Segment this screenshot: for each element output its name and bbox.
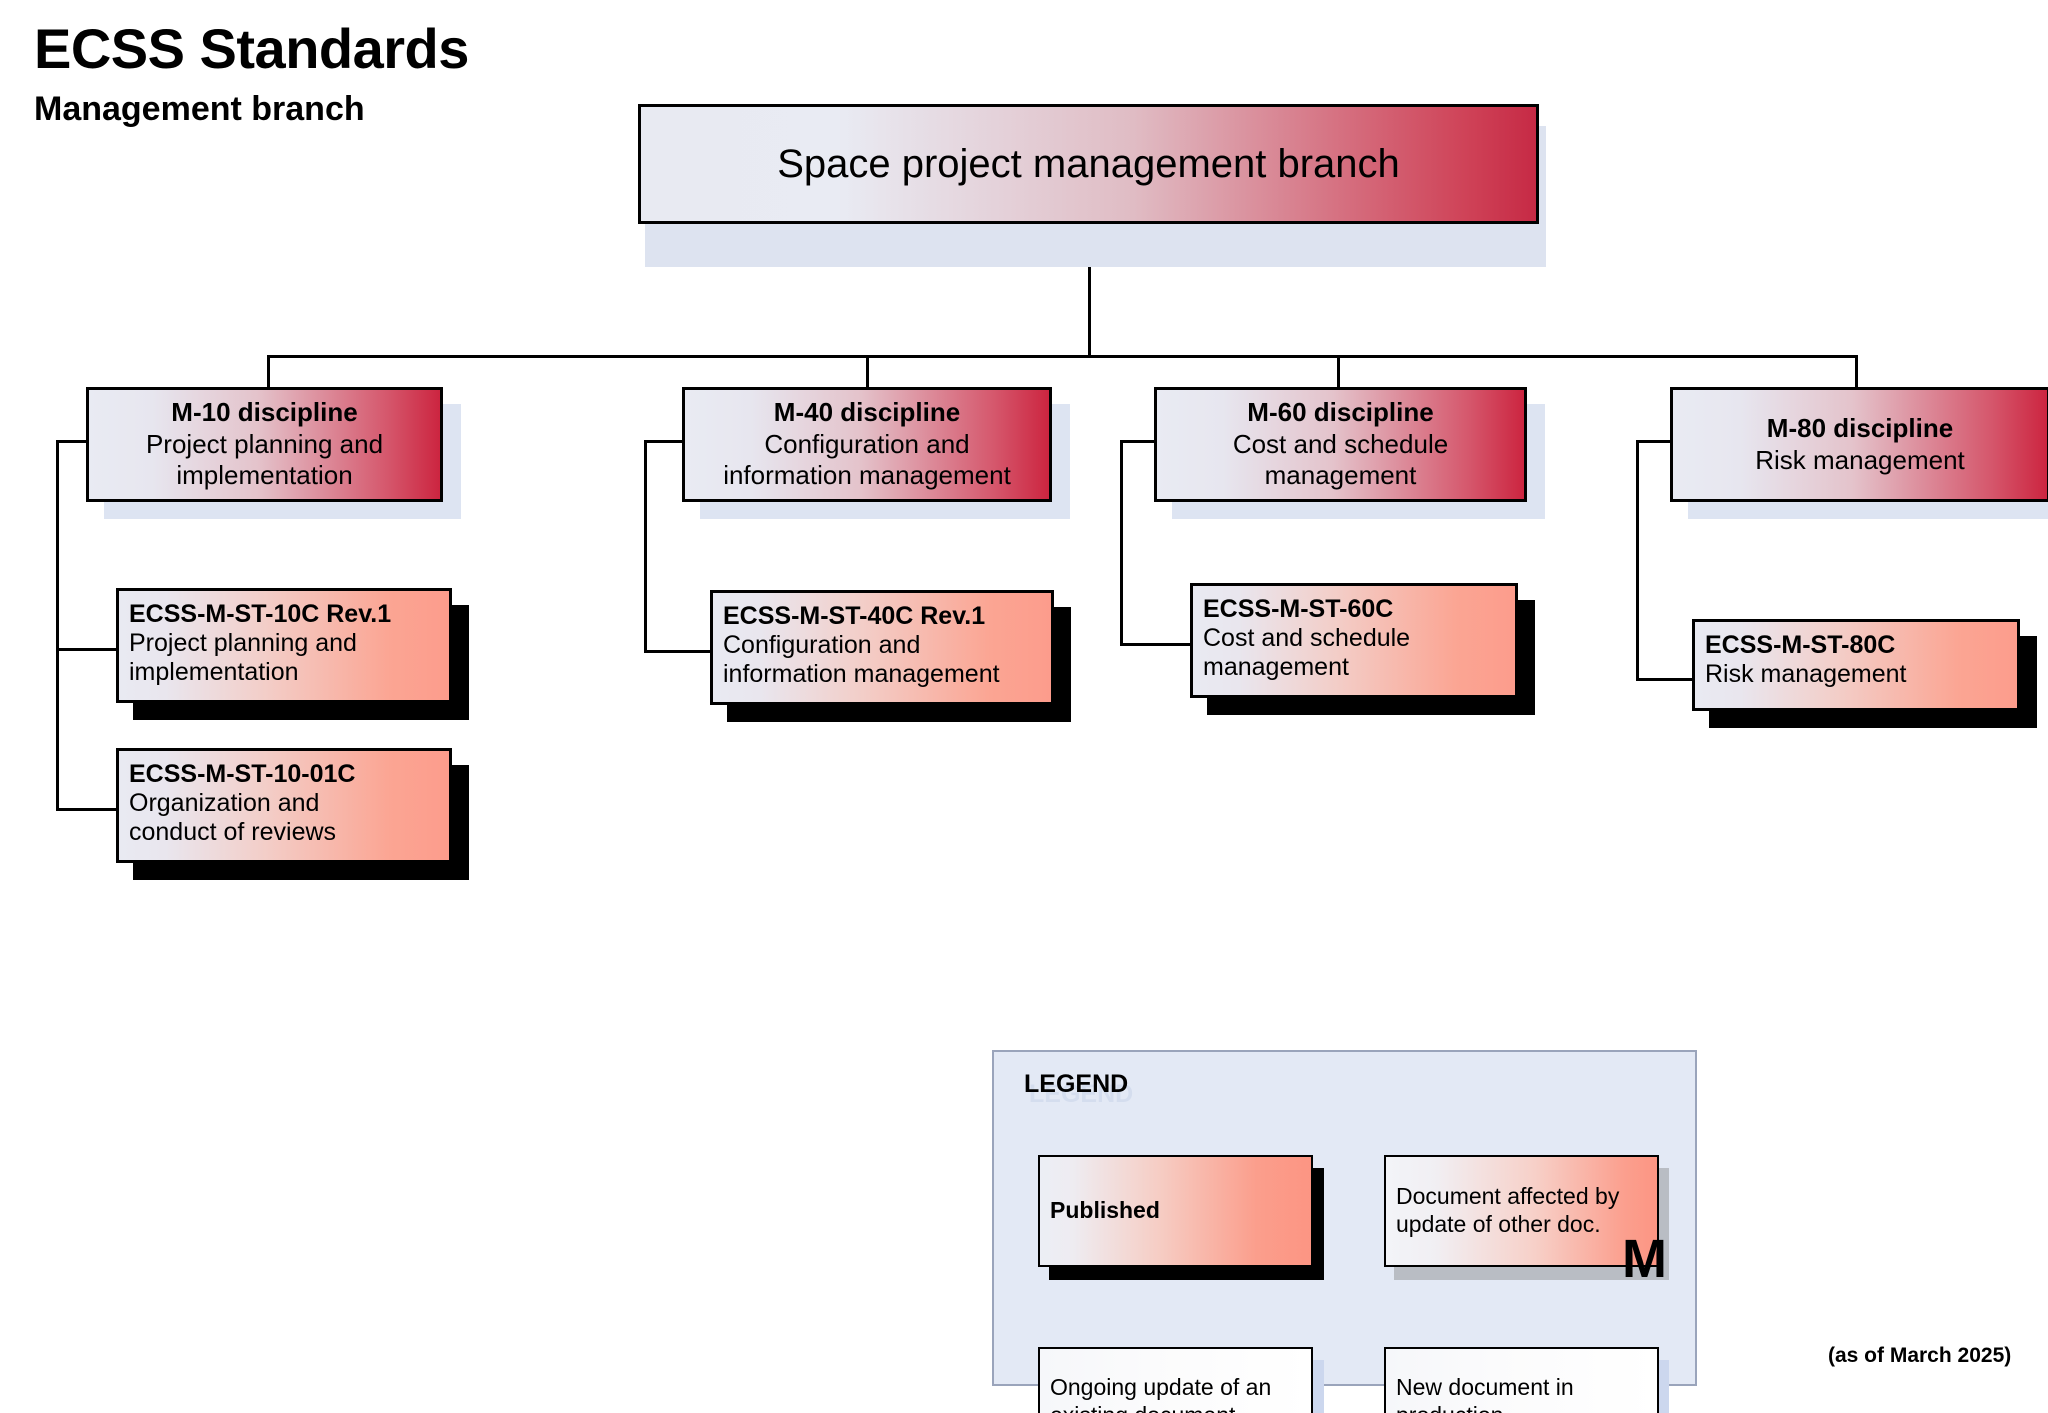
- document-code-m10-2: ECSS-M-ST-10-01C: [129, 760, 459, 789]
- legend-label-ongoing-line1: Ongoing update of an: [1050, 1374, 1311, 1402]
- connector-spine-m40: [644, 440, 647, 652]
- discipline-node-m60[interactable]: M-60 discipline Cost and schedule manage…: [1154, 387, 1527, 502]
- discipline-code-m10: M-10 discipline: [89, 397, 440, 429]
- legend-label-new-line2: production: [1396, 1402, 1657, 1413]
- legend-label-published: Published: [1050, 1197, 1311, 1225]
- legend-marker-m: M: [1622, 1232, 1667, 1286]
- document-code-m80-1: ECSS-M-ST-80C: [1705, 631, 2027, 660]
- document-desc-m60-1-line1: Cost and schedule: [1203, 624, 1525, 652]
- discipline-node-m40[interactable]: M-40 discipline Configuration and inform…: [682, 387, 1052, 502]
- connector-spine-m80: [1636, 440, 1639, 680]
- as-of-date: (as of March 2025): [1828, 1344, 2011, 1368]
- discipline-name-m40-line1: Configuration and: [685, 429, 1049, 461]
- connector-spine-m60: [1120, 440, 1123, 645]
- document-node-ecss-m-st-40c-rev1[interactable]: ECSS-M-ST-40C Rev.1 Configuration and in…: [710, 590, 1054, 705]
- connector-drop-m60: [1337, 355, 1340, 389]
- connector-horizontal-bus: [267, 355, 1855, 358]
- document-node-ecss-m-st-10c-rev1[interactable]: ECSS-M-ST-10C Rev.1 Project planning and…: [116, 588, 452, 703]
- discipline-node-m80[interactable]: M-80 discipline Risk management: [1670, 387, 2048, 502]
- document-desc-m40-1-line2: information management: [723, 660, 1061, 688]
- document-desc-m40-1-line1: Configuration and: [723, 631, 1061, 659]
- page-title: ECSS Standards: [34, 16, 469, 81]
- legend-label-new-line1: New document in: [1396, 1374, 1657, 1402]
- document-code-m60-1: ECSS-M-ST-60C: [1203, 595, 1525, 624]
- root-node[interactable]: Space project management branch: [638, 104, 1539, 224]
- document-node-ecss-m-st-60c[interactable]: ECSS-M-ST-60C Cost and schedule manageme…: [1190, 583, 1518, 698]
- document-code-m40-1: ECSS-M-ST-40C Rev.1: [723, 602, 1061, 631]
- legend-title: LEGEND: [1024, 1070, 1128, 1099]
- connector-m10-doc1: [56, 648, 118, 651]
- document-desc-m60-1-line2: management: [1203, 653, 1525, 681]
- discipline-name-m60-line2: management: [1157, 460, 1524, 492]
- discipline-code-m60: M-60 discipline: [1157, 397, 1524, 429]
- discipline-name-m40-line2: information management: [685, 460, 1049, 492]
- connector-m10-doc2: [56, 808, 118, 811]
- discipline-name-m10-line1: Project planning and: [89, 429, 440, 461]
- discipline-node-m10[interactable]: M-10 discipline Project planning and imp…: [86, 387, 443, 502]
- document-desc-m10-2-line2: conduct of reviews: [129, 818, 459, 846]
- document-code-m10-1: ECSS-M-ST-10C Rev.1: [129, 600, 459, 629]
- document-node-ecss-m-st-80c[interactable]: ECSS-M-ST-80C Risk management: [1692, 619, 2020, 711]
- legend-label-ongoing-line2: existing document: [1050, 1402, 1311, 1413]
- legend-label-affected-line1: Document affected by: [1396, 1183, 1657, 1211]
- legend-item-ongoing[interactable]: Ongoing update of an existing document: [1038, 1347, 1313, 1413]
- legend-item-affected[interactable]: Document affected by update of other doc…: [1384, 1155, 1659, 1267]
- connector-spine-m10: [56, 440, 59, 810]
- page-subtitle: Management branch: [34, 90, 365, 129]
- connector-spine-m80-top: [1636, 440, 1670, 443]
- discipline-code-m40: M-40 discipline: [685, 397, 1049, 429]
- connector-spine-m60-top: [1120, 440, 1154, 443]
- connector-spine-m40-top: [644, 440, 686, 443]
- document-desc-m10-1-line2: implementation: [129, 658, 459, 686]
- diagram-canvas: ECSS Standards Management branch (as of …: [0, 0, 2048, 1413]
- root-node-label: Space project management branch: [641, 142, 1536, 186]
- connector-drop-m80: [1855, 355, 1858, 389]
- connector-drop-m10: [267, 355, 270, 389]
- discipline-name-m80-line1: Risk management: [1673, 445, 2047, 477]
- document-desc-m10-2-line1: Organization and: [129, 789, 459, 817]
- legend-item-new[interactable]: New document in production: [1384, 1347, 1659, 1413]
- legend-panel: LEGEND LEGEND Published Document affecte…: [992, 1050, 1697, 1386]
- connector-m40-doc1: [644, 650, 710, 653]
- discipline-name-m60-line1: Cost and schedule: [1157, 429, 1524, 461]
- legend-label-affected-line2: update of other doc.: [1396, 1211, 1657, 1239]
- connector-m80-doc1: [1636, 678, 1692, 681]
- document-desc-m80-1-line1: Risk management: [1705, 660, 2027, 688]
- connector-m60-doc1: [1120, 643, 1190, 646]
- discipline-name-m10-line2: implementation: [89, 460, 440, 492]
- document-desc-m10-1-line1: Project planning and: [129, 629, 459, 657]
- discipline-code-m80: M-80 discipline: [1673, 413, 2047, 445]
- connector-drop-m40: [866, 355, 869, 389]
- document-node-ecss-m-st-10-01c[interactable]: ECSS-M-ST-10-01C Organization and conduc…: [116, 748, 452, 863]
- legend-item-published[interactable]: Published: [1038, 1155, 1313, 1267]
